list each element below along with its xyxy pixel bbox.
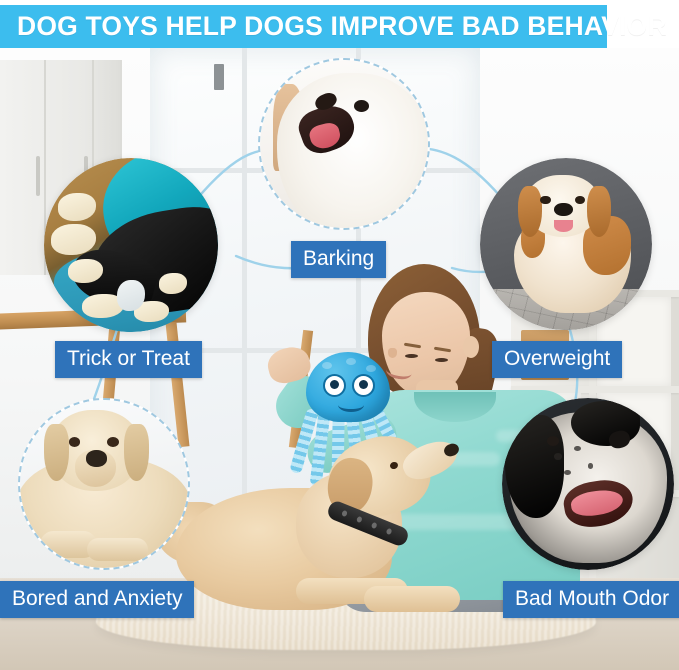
label-barking: Barking <box>291 241 386 278</box>
label-bored-anxiety: Bored and Anxiety <box>0 581 194 618</box>
photo-circle-bored-anxiety <box>18 398 190 570</box>
poster-root: DOG TOYS HELP DOGS IMPROVE BAD BEHAVIOR … <box>0 0 679 670</box>
photo-circle-trick-or-treat <box>44 158 218 332</box>
girl-ear <box>463 336 479 358</box>
poster-title: DOG TOYS HELP DOGS IMPROVE BAD BEHAVIOR <box>0 11 667 42</box>
photo-circle-bad-mouth-odor <box>502 398 674 570</box>
label-trick-or-treat: Trick or Treat <box>55 341 202 378</box>
title-banner: DOG TOYS HELP DOGS IMPROVE BAD BEHAVIOR <box>0 5 607 48</box>
octopus-head <box>306 352 390 422</box>
photo-circle-barking <box>258 58 430 230</box>
photo-circle-overweight <box>480 158 652 330</box>
label-overweight: Overweight <box>492 341 622 378</box>
golden-retriever <box>176 436 466 626</box>
label-bad-mouth-odor: Bad Mouth Odor <box>503 581 679 618</box>
